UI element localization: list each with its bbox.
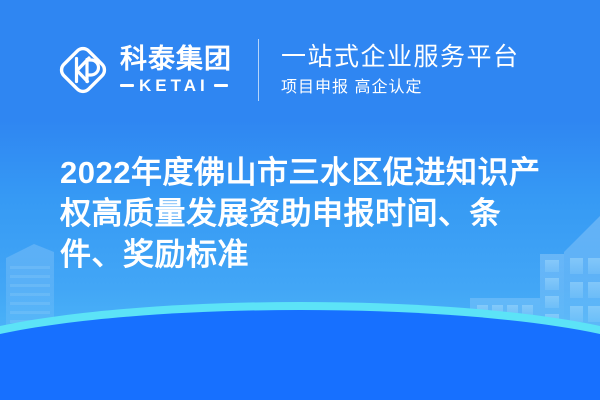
banner-header: 科泰集团 KETAI 一站式企业服务平台 项目申报 高企认定: [0, 0, 600, 140]
promo-banner: 科泰集团 KETAI 一站式企业服务平台 项目申报 高企认定 2022年度佛山市…: [0, 0, 600, 400]
header-divider: [258, 39, 259, 101]
tagline-main: 一站式企业服务平台: [281, 43, 520, 72]
logo-company-name-en-row: KETAI: [120, 77, 232, 94]
logo-dash-left: [120, 84, 134, 87]
logo-company-name-cn: 科泰集团: [120, 46, 232, 74]
tagline-block: 一站式企业服务平台 项目申报 高企认定: [281, 43, 520, 97]
brand-logo[interactable]: 科泰集团 KETAI: [56, 43, 232, 97]
tagline-sub: 项目申报 高企认定: [281, 79, 520, 97]
page-title: 2022年度佛山市三水区促进知识产权高质量发展资助申报时间、条件、奖励标准: [60, 153, 560, 276]
logo-wordmark: 科泰集团 KETAI: [120, 46, 232, 95]
logo-dash-right: [214, 84, 228, 87]
ketai-diamond-kp-logo-icon: [56, 43, 110, 97]
wave-foreground: [0, 290, 600, 400]
logo-company-name-en: KETAI: [139, 77, 209, 94]
